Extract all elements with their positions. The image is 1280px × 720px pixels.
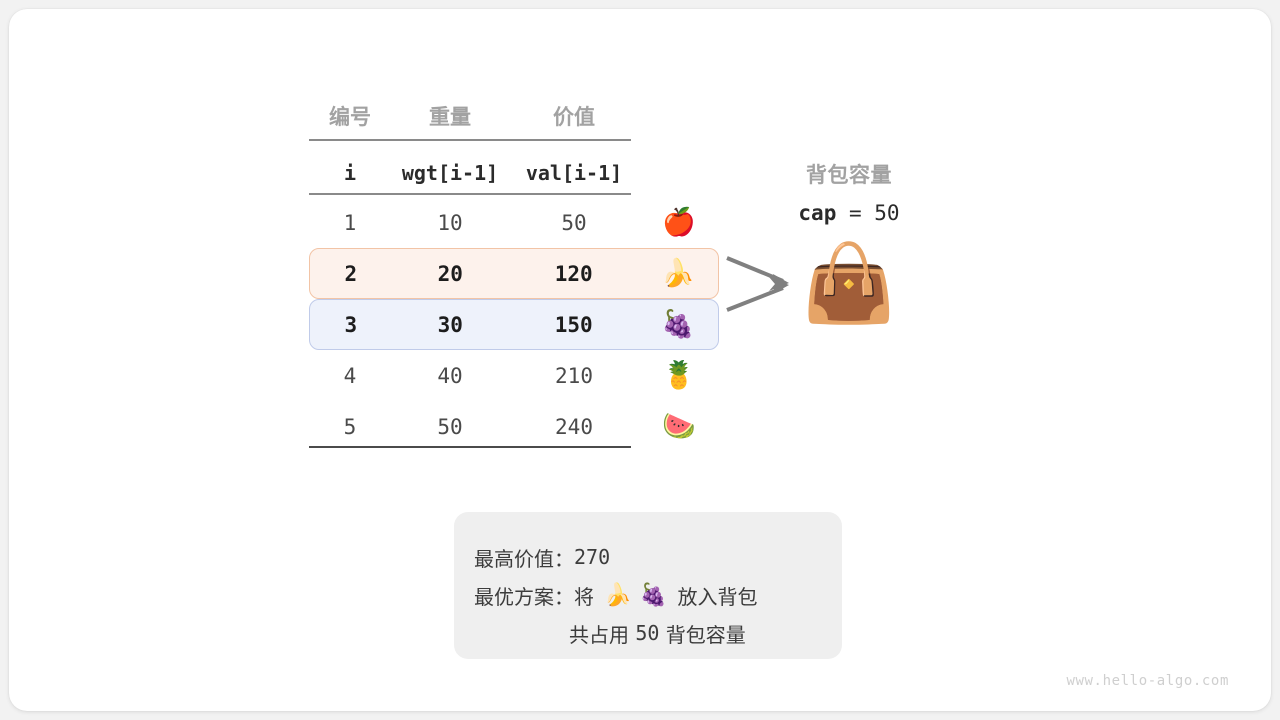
variable-header-val: val[i-1] (509, 161, 639, 185)
table-row-highlighted-peach: 2 20 120 🍌 (309, 248, 719, 299)
screenshot-canvas: 编号 重量 价值 i wgt[i-1] val[i-1] 1 10 50 🍎 2… (0, 0, 1280, 720)
content-card: 编号 重量 价值 i wgt[i-1] val[i-1] 1 10 50 🍎 2… (9, 9, 1271, 711)
cell-index: 5 (309, 415, 391, 439)
variable-header-wgt: wgt[i-1] (391, 161, 509, 185)
column-header-weight: 重量 (391, 101, 509, 131)
cell-value: 50 (509, 211, 639, 235)
table-rule-bottom (309, 446, 631, 448)
cell-index: 2 (310, 262, 392, 286)
table-body: 1 10 50 🍎 2 20 120 🍌 3 30 150 🍇 4 40 210 (309, 197, 719, 452)
result-occupy-value: 50 (635, 621, 659, 645)
cell-value: 240 (509, 415, 639, 439)
cell-weight: 50 (391, 415, 509, 439)
column-header-index: 编号 (309, 101, 391, 131)
cell-weight: 30 (392, 313, 509, 337)
capacity-equals-sign: = (836, 201, 874, 225)
cell-value: 210 (509, 364, 639, 388)
banana-emoji: 🍌 (638, 260, 718, 287)
table-column-headers: 编号 重量 价值 (309, 97, 639, 135)
column-header-value: 价值 (509, 101, 639, 131)
result-occupy-line: 共占用 50 背包容量 (474, 614, 842, 652)
result-plan-prefix: 将 (574, 581, 600, 610)
capacity-variable-name: cap (798, 201, 836, 225)
handbag-emoji: 👜 (754, 245, 944, 321)
result-occupy-suffix: 背包容量 (659, 619, 745, 648)
cell-value: 150 (509, 313, 638, 337)
table-row-highlighted-blue: 3 30 150 🍇 (309, 299, 719, 350)
pineapple-emoji: 🍍 (639, 362, 719, 389)
table-variable-headers: i wgt[i-1] val[i-1] (309, 155, 639, 191)
cell-index: 3 (310, 313, 392, 337)
knapsack-capacity: cap = 50 (754, 201, 944, 225)
watermelon-emoji: 🍉 (639, 413, 719, 440)
grapes-emoji: 🍇 (636, 583, 671, 608)
table-rule-middle (309, 193, 631, 195)
apple-emoji: 🍎 (639, 209, 719, 236)
result-max-value-line: 最高价值： 270 (474, 538, 842, 576)
table-row: 1 10 50 🍎 (309, 197, 719, 248)
table-rule-top (309, 139, 631, 141)
result-max-value-label: 最高价值： (474, 543, 574, 572)
grapes-emoji: 🍇 (638, 311, 718, 338)
knapsack-panel: 背包容量 cap = 50 👜 (754, 159, 944, 321)
capacity-value: 50 (874, 201, 899, 225)
result-plan-label: 最优方案： (474, 581, 574, 610)
cell-weight: 10 (391, 211, 509, 235)
result-plan-line: 最优方案： 将 🍌 🍇 放入背包 (474, 576, 842, 614)
table-row: 5 50 240 🍉 (309, 401, 719, 452)
cell-value: 120 (509, 262, 638, 286)
knapsack-title: 背包容量 (754, 159, 944, 189)
result-box: 最高价值： 270 最优方案： 将 🍌 🍇 放入背包 共占用 50 背包容量 (454, 512, 842, 659)
table-row: 4 40 210 🍍 (309, 350, 719, 401)
variable-header-i: i (309, 161, 391, 185)
cell-index: 4 (309, 364, 391, 388)
result-max-value: 270 (574, 545, 610, 569)
result-plan-suffix: 放入背包 (671, 581, 757, 610)
watermark: www.hello-algo.com (1066, 673, 1229, 689)
cell-weight: 20 (392, 262, 509, 286)
banana-emoji: 🍌 (600, 583, 635, 608)
cell-weight: 40 (391, 364, 509, 388)
cell-index: 1 (309, 211, 391, 235)
result-occupy-prefix: 共占用 (569, 619, 635, 648)
